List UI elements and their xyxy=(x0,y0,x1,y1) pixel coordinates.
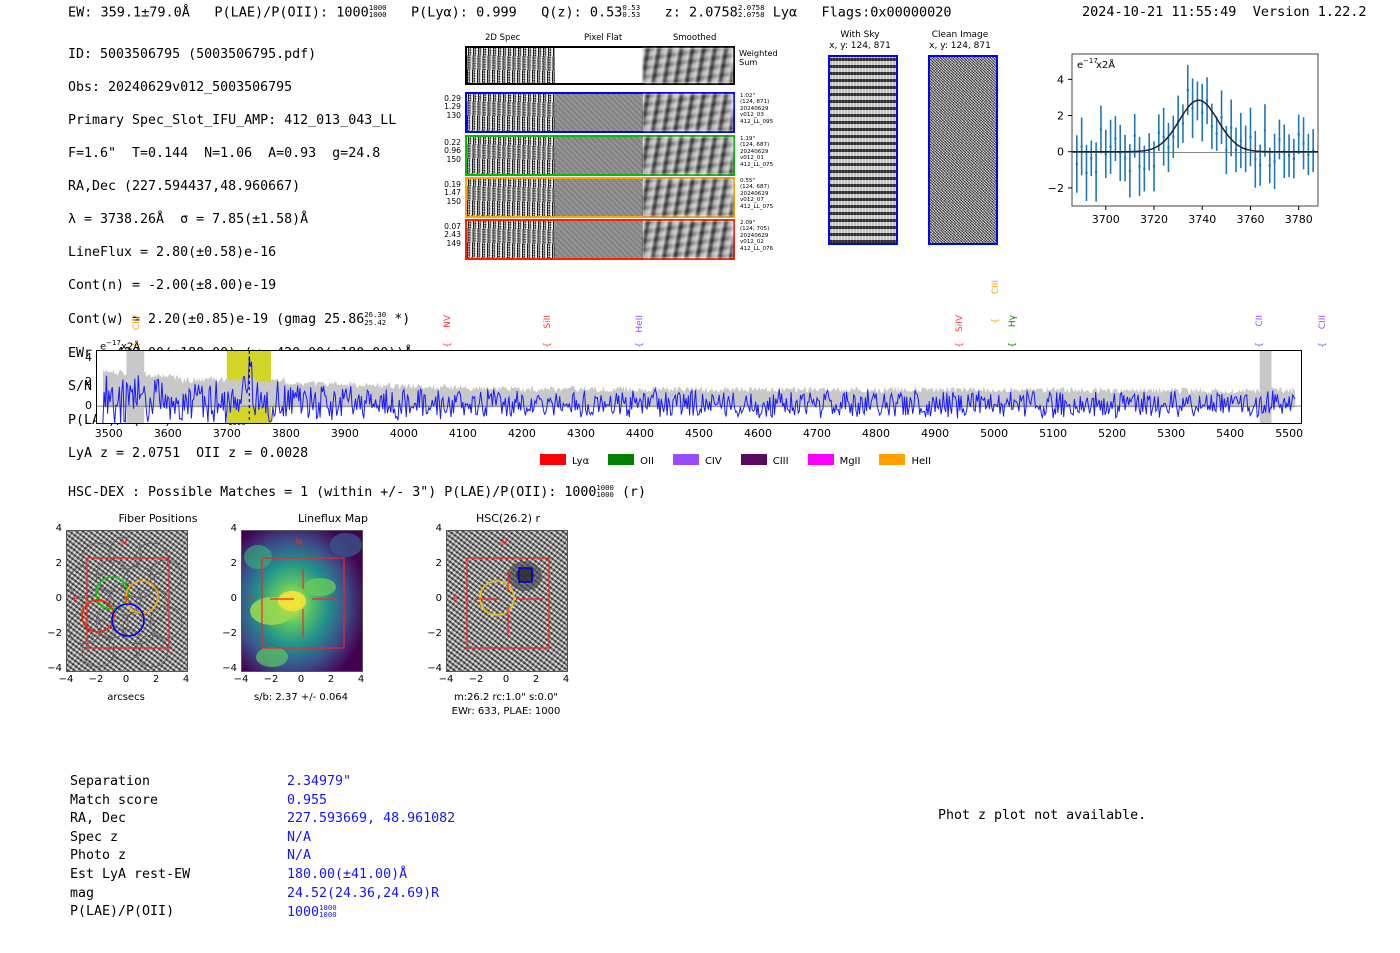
table-row: Est LyA rest-EW180.00(±41.00)Å xyxy=(70,867,455,884)
hsc-ytick: 2 xyxy=(42,558,62,569)
svg-text:E: E xyxy=(453,595,459,605)
hsc-xlabel: m:26.2 rc:1.0" s:0.0" xyxy=(401,692,611,703)
line-fit-plot: e −17 x2Å 37003720374037603780 420−2 xyxy=(1036,50,1326,250)
match-key: mag xyxy=(70,886,285,903)
strip-row-green xyxy=(465,135,735,176)
spectrum-xtick: 5400 xyxy=(1206,427,1254,440)
emission-line-bracket: { xyxy=(955,342,965,348)
hsc-xtick: 4 xyxy=(347,674,375,685)
hsc-xtick: 2 xyxy=(317,674,345,685)
legend-swatch xyxy=(608,454,634,465)
spectrum-xtick: 3700 xyxy=(203,427,251,440)
legend-item-lyα: Lyα xyxy=(540,456,589,467)
legend-swatch xyxy=(879,454,905,465)
strip-title-2dspec: 2D Spec xyxy=(485,33,520,43)
clean-image xyxy=(928,55,998,245)
spectrum-xtick: 3500 xyxy=(85,427,133,440)
emission-line-markers: CIV{NV{SiII{HeII{CIII{SiIV{Hγ{CII{CIII{C… xyxy=(0,270,1400,352)
info-line-id: ID: 5003506795 (5003506795.pdf) xyxy=(68,47,412,64)
table-row: P(LAE)/P(OII)100010001000 xyxy=(70,904,455,922)
qz-label: Q(z): xyxy=(541,4,582,20)
table-row: Match score0.955 xyxy=(70,793,455,810)
hsc-xtick: −2 xyxy=(462,674,490,685)
match-details-table: Separation2.34979"Match score0.955RA, De… xyxy=(68,772,457,924)
table-row: Separation2.34979" xyxy=(70,774,455,791)
spectrum-legend: LyαOIICIVCIIIMgIIHeII xyxy=(540,454,950,467)
strip-row2-left-labels: 0.220.96150 xyxy=(425,139,461,164)
z-value: 2.0758 xyxy=(689,4,738,20)
spectrum-xtick: 4100 xyxy=(439,427,487,440)
weighted-sum-label: WeightedSum xyxy=(739,49,778,67)
hsc-ytick: −4 xyxy=(422,663,442,674)
legend-swatch xyxy=(540,454,566,465)
legend-label: Lyα xyxy=(572,456,589,467)
lineflux-map-image[interactable]: N E xyxy=(241,530,363,672)
table-row: Photo zN/A xyxy=(70,848,455,865)
match-value: N/A xyxy=(287,848,455,865)
emission-line-label-civ: CIV xyxy=(132,315,142,330)
info-line-radec: RA,Dec (227.594437,48.960667) xyxy=(68,179,412,196)
emission-line-bracket: { xyxy=(543,342,553,348)
match-key: P(LAE)/P(OII) xyxy=(70,904,285,922)
spectrum-ytick: 4 xyxy=(76,351,92,364)
match-value: 180.00(±41.00)Å xyxy=(287,867,455,884)
svg-text:x2Å: x2Å xyxy=(1096,58,1115,71)
with-sky-image xyxy=(828,55,898,245)
emission-line-label-hγ: Hγ xyxy=(1008,315,1018,327)
strip-title-pixelflat: Pixel Flat xyxy=(584,33,622,43)
hsc-ytick: 2 xyxy=(422,558,442,569)
match-value: 100010001000 xyxy=(287,904,455,922)
spectrum-xtick: 3800 xyxy=(262,427,310,440)
strip-row-blue xyxy=(465,92,735,133)
svg-text:E: E xyxy=(248,595,254,605)
ew-value: 359.1±79.0Å xyxy=(101,4,190,20)
spectrum-xtick: 4300 xyxy=(557,427,605,440)
fiber-positions-image[interactable]: N E xyxy=(66,530,188,672)
hsc-r-image[interactable]: N E xyxy=(446,530,568,672)
svg-text:N: N xyxy=(501,538,508,548)
flags-value: Flags:0x00000020 xyxy=(822,4,952,20)
spectrum-xtick: 4200 xyxy=(498,427,546,440)
legend-label: OII xyxy=(640,456,654,467)
hsc-xtick: −4 xyxy=(432,674,460,685)
z-label: z: xyxy=(665,4,681,20)
match-key: Separation xyxy=(70,774,285,791)
svg-text:2: 2 xyxy=(1057,110,1064,123)
legend-label: CIV xyxy=(705,456,722,467)
spectrum-xtick: 4400 xyxy=(616,427,664,440)
spectrum-xtick: 5100 xyxy=(1029,427,1077,440)
with-sky-title: With Skyx, y: 124, 871 xyxy=(805,30,915,52)
hsc-xtick: 0 xyxy=(492,674,520,685)
legend-swatch xyxy=(741,454,767,465)
match-key: Est LyA rest-EW xyxy=(70,867,285,884)
strip-row2-right-labels: 1.19"(124, 687)20240629v012_01412_LL_075 xyxy=(740,136,800,168)
svg-text:−2: −2 xyxy=(1048,182,1064,195)
header-summary: EW: 359.1±79.0Å P(LAE)/P(OII): 100010001… xyxy=(68,4,952,20)
strip-title-smoothed: Smoothed xyxy=(673,33,716,43)
spectrum-xtick: 3600 xyxy=(144,427,192,440)
qz-value: 0.53 xyxy=(590,4,623,20)
svg-text:E: E xyxy=(73,595,79,605)
spectrum-xtick: 4900 xyxy=(911,427,959,440)
info-line-seeing: F=1.6" T=0.144 N=1.06 A=0.93 g=24.8 xyxy=(68,146,412,163)
svg-text:4: 4 xyxy=(1057,73,1064,86)
emission-line-label-nv: NV xyxy=(443,315,453,328)
hsc-ytick: −2 xyxy=(217,628,237,639)
emission-line-bracket: { xyxy=(635,342,645,348)
legend-label: HeII xyxy=(911,456,931,467)
svg-text:3700: 3700 xyxy=(1092,213,1120,226)
hsc-xtick: 0 xyxy=(112,674,140,685)
spectrum-xtick: 4000 xyxy=(380,427,428,440)
strip-row-weighted-sum xyxy=(465,46,735,85)
svg-text:0: 0 xyxy=(1057,146,1064,159)
spectrum-xtick: 5000 xyxy=(970,427,1018,440)
match-value: N/A xyxy=(287,830,455,847)
spectrum-xtick: 5200 xyxy=(1088,427,1136,440)
spectrum-xtick: 4700 xyxy=(793,427,841,440)
hsc-ytick: 0 xyxy=(422,593,442,604)
full-spectrum-plot xyxy=(96,350,1302,424)
header-meta: 2024-10-21 11:55:49 Version 1.22.2 xyxy=(1082,4,1367,20)
plya-value: 0.999 xyxy=(476,4,517,20)
match-key: Photo z xyxy=(70,848,285,865)
hsc-ytick: 4 xyxy=(42,523,62,534)
hsc-ytick: −4 xyxy=(42,663,62,674)
match-key: RA, Dec xyxy=(70,811,285,828)
emission-line-label-ciii: CIII xyxy=(1318,315,1328,329)
legend-swatch xyxy=(673,454,699,465)
legend-item-oii: OII xyxy=(608,456,654,467)
hsc-ytick: 2 xyxy=(217,558,237,569)
info-line-redshifts: LyA z = 2.0751 OII z = 0.0028 xyxy=(68,446,412,463)
match-key: Spec z xyxy=(70,830,285,847)
hsc-xtick: 2 xyxy=(142,674,170,685)
emission-line-label-siii: SiII xyxy=(543,315,553,329)
twod-spectrum-strip: 2D Spec Pixel Flat Smoothed WeightedSum … xyxy=(425,33,755,253)
match-value-range: 10001000 xyxy=(319,904,337,919)
spectrum-units-label: e−17x2Å xyxy=(100,339,140,352)
hsc-xtick: −2 xyxy=(82,674,110,685)
strip-row-red xyxy=(465,219,735,260)
table-row: Spec zN/A xyxy=(70,830,455,847)
hsc-ytick: −4 xyxy=(217,663,237,674)
hsc-xtick: −2 xyxy=(257,674,285,685)
plae-label: P(LAE)/P(OII): xyxy=(214,4,328,20)
info-line-primary-spec: Primary Spec_Slot_IFU_AMP: 412_013_043_L… xyxy=(68,113,412,130)
emission-line-label-siiv: SiIV xyxy=(955,315,965,332)
svg-text:3760: 3760 xyxy=(1236,213,1264,226)
z-line-name: Lyα xyxy=(773,4,797,20)
svg-text:N: N xyxy=(121,538,128,548)
hsc-ytick: −2 xyxy=(422,628,442,639)
table-row: RA, Dec227.593669, 48.961082 xyxy=(70,811,455,828)
match-value: 0.955 xyxy=(287,793,455,810)
hsc-xlabel: s/b: 2.37 +/- 0.064 xyxy=(196,692,406,703)
match-key: Match score xyxy=(70,793,285,810)
panel-title-lineflux-map: Lineflux Map xyxy=(238,512,428,525)
emission-line-label-cii: CII xyxy=(1255,315,1265,327)
plya-label: P(Lyα): xyxy=(411,4,468,20)
strip-row4-left-labels: 0.072.43149 xyxy=(425,223,461,248)
info-line-wavelength: λ = 3738.26Å σ = 7.85(±1.58)Å xyxy=(68,212,412,229)
clean-image-title: Clean Imagex, y: 124, 871 xyxy=(900,30,1020,52)
strip-row3-left-labels: 0.191.47150 xyxy=(425,181,461,206)
strip-row1-right-labels: 1.02"(124, 871)20240629v012_03412_LL_095 xyxy=(740,93,800,125)
emission-line-bracket: { xyxy=(1318,342,1328,348)
match-value: 2.34979" xyxy=(287,774,455,791)
hsc-ytick: 4 xyxy=(217,523,237,534)
ew-label: EW: xyxy=(68,4,92,20)
hsc-xlabel-secondary: EWr: 633, PLAE: 1000 xyxy=(401,706,611,717)
spectrum-xtick: 4600 xyxy=(734,427,782,440)
spectrum-xtick: 5500 xyxy=(1265,427,1313,440)
z-range: 2.07582.0758 xyxy=(738,4,765,19)
svg-text:3720: 3720 xyxy=(1140,213,1168,226)
timestamp: 2024-10-21 11:55:49 xyxy=(1082,4,1236,20)
legend-swatch xyxy=(808,454,834,465)
hsc-xtick: 0 xyxy=(287,674,315,685)
emission-line-bracket: { xyxy=(1255,342,1265,348)
match-value: 24.52(24.36,24.69)R xyxy=(287,886,455,903)
spectrum-ytick: 0 xyxy=(76,399,92,412)
photz-note: Phot z plot not available. xyxy=(938,808,1146,823)
strip-row4-right-labels: 2.09"(124, 705)20240629v012_02412_LL_076 xyxy=(740,220,800,252)
strip-row-orange xyxy=(465,177,735,218)
strip-row1-left-labels: 0.291.29130 xyxy=(425,95,461,120)
legend-item-mgii: MgII xyxy=(808,456,861,467)
legend-item-ciii: CIII xyxy=(741,456,789,467)
emission-line-label-ciii: CIII xyxy=(991,280,1001,294)
hsc-xtick: −4 xyxy=(52,674,80,685)
plae-value: 1000 xyxy=(336,4,369,20)
svg-text:N: N xyxy=(296,538,303,548)
strip-row3-right-labels: 0.55"(124, 687)20240629v012_07412_LL_075 xyxy=(740,178,800,210)
hsc-dex-summary: HSC-DEX : Possible Matches = 1 (within +… xyxy=(68,484,646,500)
spectrum-ytick: 2 xyxy=(76,375,92,388)
hsc-xtick: −4 xyxy=(227,674,255,685)
legend-label: MgII xyxy=(840,456,861,467)
svg-text:3780: 3780 xyxy=(1285,213,1313,226)
spectrum-xtick: 4800 xyxy=(852,427,900,440)
emission-line-bracket: { xyxy=(991,318,1001,324)
legend-item-civ: CIV xyxy=(673,456,722,467)
hsc-ytick: 0 xyxy=(217,593,237,604)
legend-item-heii: HeII xyxy=(879,456,931,467)
hsc-xtick: 4 xyxy=(172,674,200,685)
match-value: 227.593669, 48.961082 xyxy=(287,811,455,828)
info-line-lineflux: LineFlux = 2.80(±0.58)e-16 xyxy=(68,245,412,262)
svg-text:3740: 3740 xyxy=(1188,213,1216,226)
emission-line-bracket: { xyxy=(443,342,453,348)
hsc-ytick: 4 xyxy=(422,523,442,534)
qz-range: 0.530.53 xyxy=(622,4,640,19)
legend-label: CIII xyxy=(773,456,789,467)
hsc-ytick: 0 xyxy=(42,593,62,604)
hsc-xtick: 4 xyxy=(552,674,580,685)
info-line-obs: Obs: 20240629v012_5003506795 xyxy=(68,80,412,97)
hsc-ytick: −2 xyxy=(42,628,62,639)
spectrum-xtick: 4500 xyxy=(675,427,723,440)
version: Version 1.22.2 xyxy=(1253,4,1367,20)
spectrum-xtick: 5300 xyxy=(1147,427,1195,440)
spectrum-xtick: 3900 xyxy=(321,427,369,440)
table-row: mag24.52(24.36,24.69)R xyxy=(70,886,455,903)
emission-line-bracket: { xyxy=(1008,342,1018,348)
emission-line-label-heii: HeII xyxy=(635,315,645,333)
plae-range: 10001000 xyxy=(369,4,387,19)
hsc-xtick: 2 xyxy=(522,674,550,685)
